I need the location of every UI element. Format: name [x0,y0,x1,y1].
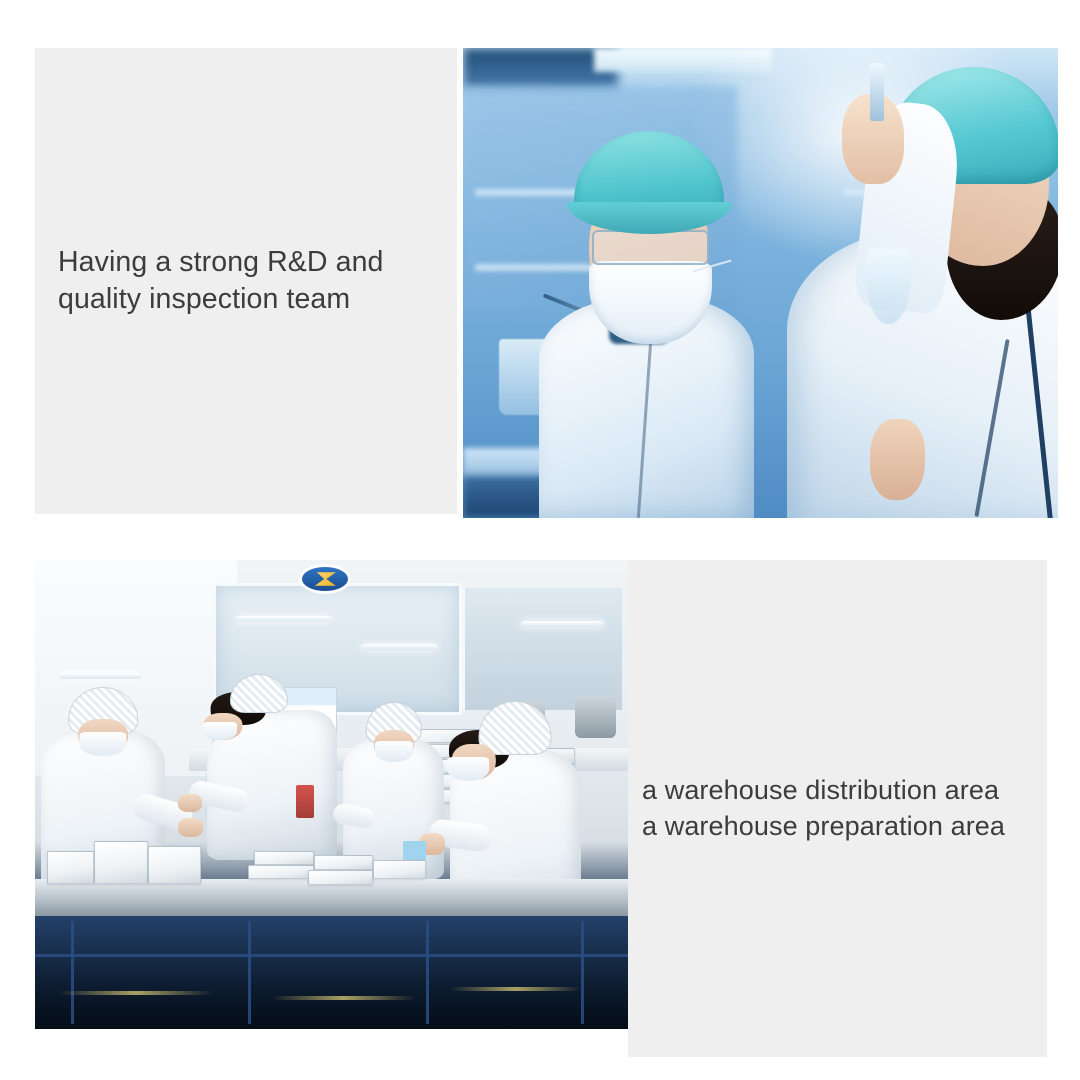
floor-shadow [35,916,628,1029]
hand [178,818,203,837]
cleanroom-window [462,588,622,710]
warehouse-scene [35,560,628,1029]
product-box [94,841,147,883]
hand [870,419,925,500]
top-caption-text: Having a strong R&D and quality inspecti… [35,244,391,319]
blue-label-card [403,841,427,860]
face-mask [447,757,489,782]
company-logo-icon [302,567,348,591]
product-box [308,870,373,885]
lab-inspection-photo [463,48,1058,518]
ceiling-light [59,673,142,679]
product-box [254,851,313,865]
floor-stripe [450,987,580,991]
top-caption-panel: Having a strong R&D and quality inspecti… [35,48,457,514]
lab-technician-profile [725,76,1058,518]
table-frame [426,921,429,1024]
top-section: Having a strong R&D and quality inspecti… [0,0,1080,530]
face-mask [203,722,237,740]
table-frame [581,921,584,1024]
product-box [314,855,373,870]
red-bin [296,785,314,818]
lab-scene [463,48,1058,518]
sample-vial [870,63,884,122]
bottom-section: a warehouse distribution area a warehous… [0,530,1080,1080]
floor-stripe [59,991,213,995]
table-frame [71,921,74,1024]
product-box [248,865,313,879]
face-mask [375,741,413,762]
table-frame [248,921,251,1024]
slide-root: Having a strong R&D and quality inspecti… [0,0,1080,1080]
table-frame [35,954,628,957]
ceiling-light [361,644,438,650]
product-box [148,846,201,884]
ceiling-light [521,621,604,627]
hand [178,794,201,812]
warehouse-packing-photo [35,560,628,1029]
product-box [373,860,426,879]
bottom-caption-text: a warehouse distribution area a warehous… [628,773,1009,845]
face-mask [80,732,127,756]
safety-glasses [592,230,709,266]
worker-center [207,710,337,860]
floor-stripe [272,996,414,1000]
bottom-caption-panel: a warehouse distribution area a warehous… [628,560,1047,1057]
product-box [47,851,94,884]
steel-container [575,696,617,738]
stainless-steel-table [35,879,628,921]
ceiling-light [237,616,332,622]
